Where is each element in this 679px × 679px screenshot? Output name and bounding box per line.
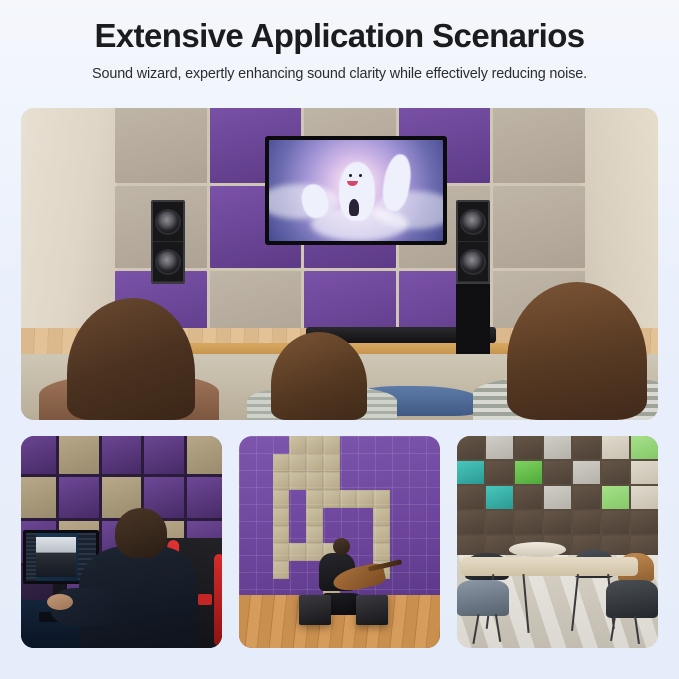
image-gallery <box>21 108 658 648</box>
hero-photo <box>21 108 658 420</box>
office-chair-front-left <box>457 580 509 616</box>
music-room-photo <box>239 436 440 648</box>
office-acoustic-panel-grid <box>457 436 658 559</box>
tv-screen-content <box>269 140 443 241</box>
studio-photo <box>21 436 222 648</box>
page-subtitle: Sound wizard, expertly enhancing sound c… <box>16 66 663 83</box>
hero-image-home-theater[interactable] <box>21 108 658 420</box>
thumbnail-recording-studio[interactable] <box>21 436 222 648</box>
page-title: Extensive Application Scenarios <box>16 18 663 55</box>
office-photo <box>457 436 658 648</box>
office-long-table <box>461 557 638 576</box>
office-round-table <box>509 542 565 557</box>
studio-person-head <box>115 508 167 558</box>
studio-person-hand <box>47 594 73 610</box>
thumbnail-row <box>21 436 658 648</box>
tower-speaker-left <box>151 200 185 284</box>
wall-mounted-tv <box>265 136 447 245</box>
header: Extensive Application Scenarios Sound wi… <box>0 0 679 83</box>
speaker-cabinet-right <box>456 284 490 358</box>
editor-left-panel <box>26 533 36 581</box>
thumbnail-office-space[interactable] <box>457 436 658 648</box>
tower-speaker-right <box>456 200 490 284</box>
office-chair-front-right <box>606 580 658 618</box>
editor-preview-image <box>36 537 77 577</box>
gaming-chair-red-trim-right <box>214 554 222 646</box>
amplifier-left <box>299 595 331 625</box>
thumbnail-music-room[interactable] <box>239 436 440 648</box>
gaming-chair-logo <box>198 594 212 605</box>
amplifier-right <box>356 595 388 625</box>
